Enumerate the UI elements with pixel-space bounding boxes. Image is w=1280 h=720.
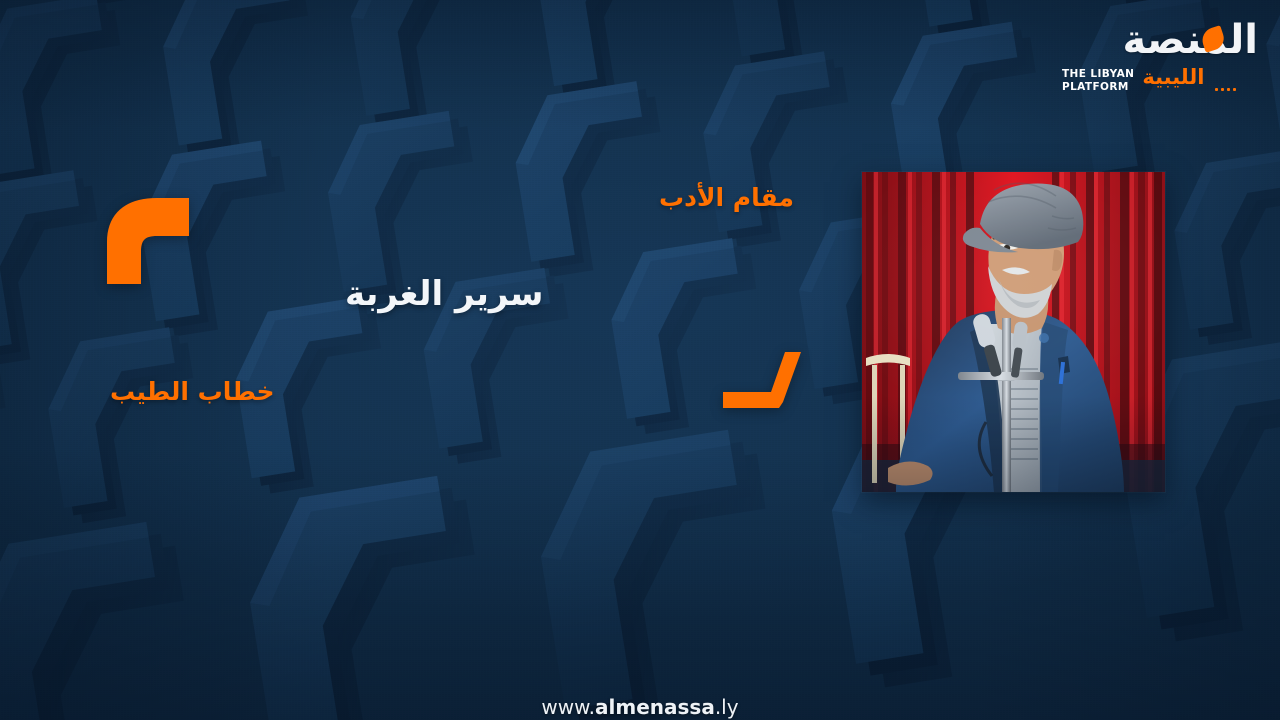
logo-secondary-row: الليبية THE LIBYAN PLATFORM [1062,66,1258,94]
quote-close-icon [723,352,803,408]
url-tld: .ly [715,695,739,719]
speaker-photo-image [862,172,1165,492]
logo-english-line2: PLATFORM [1062,81,1129,93]
logo-arabic-main: المنصة [1122,18,1258,62]
logo-english-line1: THE LIBYAN [1062,68,1134,80]
logo-dots-icon [1215,88,1236,91]
speaker-photo[interactable] [862,172,1165,492]
website-url[interactable]: www.almenassa.ly [0,694,1280,720]
episode-subtitle: خطاب الطيب [110,375,275,409]
cover-canvas: المنصة الليبية THE LIBYAN PLATFORM مقام … [0,0,1280,720]
logo-english-text: THE LIBYAN PLATFORM [1062,66,1134,93]
logo-arabic-sub: الليبية [1142,66,1204,88]
brand-logo[interactable]: المنصة الليبية THE LIBYAN PLATFORM [1062,22,1258,94]
episode-kicker: مقام الأدب [659,181,794,215]
url-prefix: www. [541,695,595,719]
page-title: سرير الغربة [345,272,544,316]
quote-open-icon [97,196,194,284]
logo-arabic-row: المنصة [1062,22,1258,66]
url-name: almenassa [595,695,715,719]
